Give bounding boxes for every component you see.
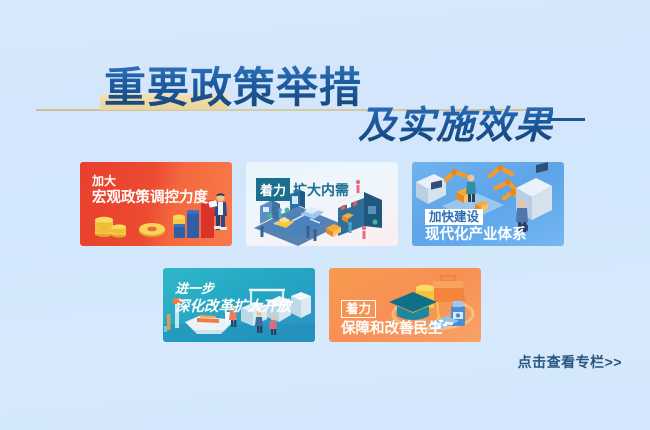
- card-2-line-2: 扩大内需: [290, 180, 349, 200]
- card-4-line-2: 深化改革扩大开放: [175, 295, 291, 316]
- card-2-line-1: 着力: [256, 178, 290, 201]
- title-end-dash: [551, 118, 585, 121]
- card-5-text-row-1: 着力: [341, 298, 376, 318]
- card-2-text: 着力 扩大内需: [256, 178, 349, 201]
- card-3-line-2: 现代化产业体系: [425, 223, 527, 244]
- card-1-line-1: 加大: [92, 174, 208, 189]
- card-improve-peoples-livelihood[interactable]: 着力 保障和改善民生: [329, 268, 481, 342]
- card-5-line-2: 保障和改善民生: [341, 317, 443, 338]
- card-macro-policy-regulation[interactable]: 加大 宏观政策调控力度: [80, 162, 232, 246]
- title-line-1: 重要政策举措: [104, 54, 362, 115]
- card-1-text: 加大 宏观政策调控力度: [92, 174, 208, 207]
- policy-banner: 重要政策举措 及实施效果: [0, 0, 650, 430]
- card-1-line-2: 宏观政策调控力度: [92, 189, 208, 207]
- view-column-link[interactable]: 点击查看专栏>>: [518, 352, 622, 372]
- card-modern-industrial-system[interactable]: 加快建设 现代化产业体系: [412, 162, 564, 246]
- banner-title-block: 重要政策举措 及实施效果: [0, 52, 650, 152]
- card-2-illustration: [246, 162, 398, 246]
- card-deepen-reform-opening-up[interactable]: 进一步 深化改革扩大开放: [163, 268, 315, 342]
- title-line-2: 及实施效果: [358, 94, 553, 149]
- card-expand-domestic-demand[interactable]: 着力 扩大内需: [246, 162, 398, 246]
- card-5-line-1: 着力: [341, 300, 376, 318]
